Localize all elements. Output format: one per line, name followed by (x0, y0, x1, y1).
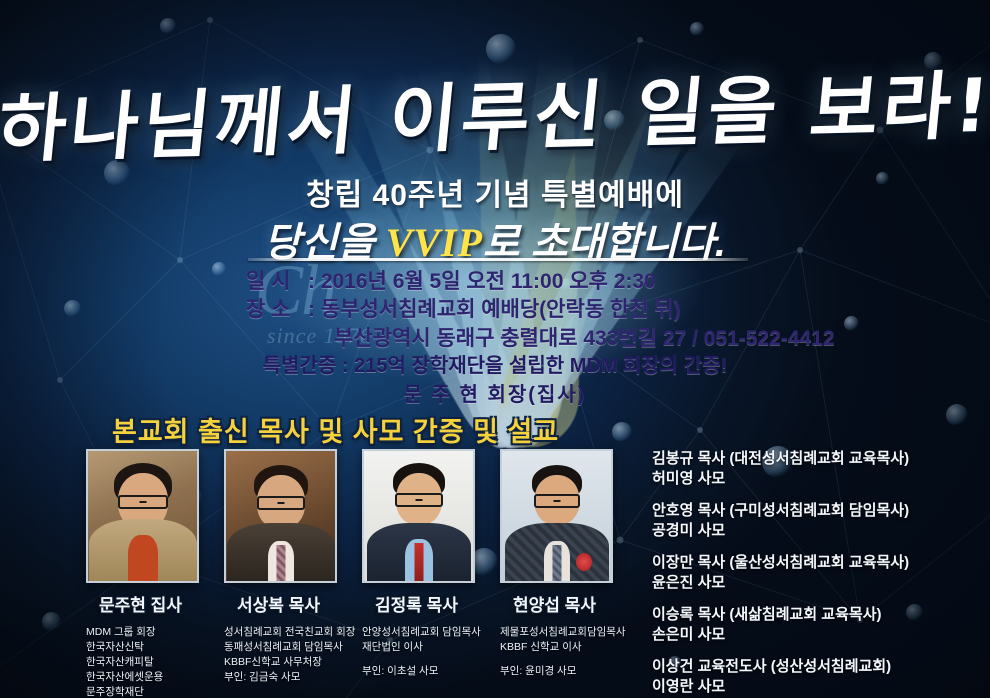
bio-line: 안양성서침례교회 담임목사 (362, 625, 471, 640)
speaker-photo-frame (500, 449, 613, 583)
place-value: : 동부성서침례교회 예배당(안락동 한전 뒤) (308, 296, 681, 324)
date-value: : 2016년 6월 5일 오전 11:00 오후 2:30 (308, 268, 656, 296)
portrait-image (364, 451, 473, 581)
bio-line: 재단법인 이사 (362, 640, 471, 655)
spouse-line: 부인: 이초설 사모 (362, 664, 471, 679)
special-testimony-block: 특별간증 : 215억 장학재단을 설립한 MDM 회장의 간증! 문 주 현 … (0, 352, 990, 410)
speaker-photo-frame (224, 449, 337, 583)
pastor-list-item: 이상건 교육전도사 (성산성서침례교회) 이영란 사모 (652, 657, 909, 696)
portrait-image (88, 451, 197, 581)
section-heading: 본교회 출신 목사 및 사모 간증 및 설교 (112, 410, 559, 449)
pastor-list: 김봉규 목사 (대전성서침례교회 교육목사) 허미영 사모 안호영 목사 (구미… (652, 449, 909, 698)
content-layer: 하나님께서 이루신 일을 보라! 창립 40주년 기념 특별예배에 당신을 VV… (0, 0, 990, 698)
bio-line: 문주장학재단 (86, 685, 195, 698)
pastor-name: 김봉규 목사 (대전성서침례교회 교육목사) (652, 449, 909, 469)
speaker-name: 문주현 집사 (86, 591, 195, 616)
bio-line: 한국자산신탁 (86, 640, 195, 655)
address-value: 부산광역시 동래구 충렬대로 433번길 27 / 051-522-4412 (334, 325, 835, 353)
page-title: 하나님께서 이루신 일을 보라! (0, 46, 990, 177)
speaker-name: 서상복 목사 (224, 591, 333, 616)
speaker-photo-strip: 문주현 집사 MDM 그룹 회장 한국자산신탁 한국자산캐피탈 한국자산에셋운용… (86, 449, 609, 698)
speaker-photo-frame (86, 449, 199, 583)
place-label: 장 소 (246, 296, 308, 324)
speaker-bio: MDM 그룹 회장 한국자산신탁 한국자산캐피탈 한국자산에셋운용 문주장학재단 (86, 625, 195, 698)
portrait-image (502, 451, 611, 581)
speaker-bio: 안양성서침례교회 담임목사 재단법인 이사 부인: 이초설 사모 (362, 625, 471, 679)
pastor-wife: 공경미 사모 (652, 521, 909, 541)
spouse-line: 부인: 김금숙 사모 (224, 670, 333, 685)
pastor-wife: 허미영 사모 (652, 469, 909, 489)
portrait-image (226, 451, 335, 581)
date-label: 일 시 (246, 268, 308, 296)
speaker-name: 현양섭 목사 (500, 591, 609, 616)
pastor-wife: 이영란 사모 (652, 677, 909, 697)
special-testimony-line-2: 문 주 현 회장(집사) (0, 381, 990, 410)
pastor-wife: 윤은진 사모 (652, 573, 909, 593)
speaker-photo-frame (362, 449, 475, 583)
info-row-date: 일 시 : 2016년 6월 5일 오전 11:00 오후 2:30 (246, 268, 835, 296)
speaker-name: 김정록 목사 (362, 591, 471, 616)
event-info-block: 일 시 : 2016년 6월 5일 오전 11:00 오후 2:30 장 소 :… (246, 268, 835, 353)
invitation-poster: Ch since 1976 하나님께서 이루신 일을 보라! 창립 40주년 기… (0, 0, 990, 698)
bio-spacer (362, 655, 471, 664)
bio-line: 한국자산캐피탈 (86, 655, 195, 670)
bio-line: KBBF 신학교 이사 (500, 640, 609, 655)
underline-divider (248, 258, 748, 261)
bio-line: MDM 그룹 회장 (86, 625, 195, 640)
pastor-list-item: 이장만 목사 (울산성서침례교회 교육목사) 윤은진 사모 (652, 553, 909, 592)
speaker-bio: 성서침례교회 전국친교회 회장 동패성서침례교회 담임목사 KBBF신학교 사무… (224, 625, 333, 685)
pastor-wife: 손은미 사모 (652, 625, 909, 645)
bio-spacer (500, 655, 609, 664)
info-row-place: 장 소 : 동부성서침례교회 예배당(안락동 한전 뒤) (246, 296, 835, 324)
bio-line: 제물포성서침례교회담임목사 (500, 625, 609, 640)
speaker-card: 서상복 목사 성서침례교회 전국친교회 회장 동패성서침례교회 담임목사 KBB… (224, 449, 333, 698)
pastor-name: 이상건 교육전도사 (성산성서침례교회) (652, 657, 909, 677)
subtitle-line-1: 창립 40주년 기념 특별예배에 (0, 170, 990, 214)
speaker-bio: 제물포성서침례교회담임목사 KBBF 신학교 이사 부인: 윤미경 사모 (500, 625, 609, 679)
pastor-list-item: 이승록 목사 (새삶침례교회 교육목사) 손은미 사모 (652, 605, 909, 644)
special-testimony-line-1: 특별간증 : 215억 장학재단을 설립한 MDM 회장의 간증! (0, 352, 990, 381)
pastor-name: 안호영 목사 (구미성서침례교회 담임목사) (652, 501, 909, 521)
pastor-name: 이승록 목사 (새삶침례교회 교육목사) (652, 605, 909, 625)
pastor-list-item: 안호영 목사 (구미성서침례교회 담임목사) 공경미 사모 (652, 501, 909, 540)
speaker-card: 현양섭 목사 제물포성서침례교회담임목사 KBBF 신학교 이사 부인: 윤미경… (500, 449, 609, 698)
bio-line: 한국자산에셋운용 (86, 670, 195, 685)
spouse-line: 부인: 윤미경 사모 (500, 664, 609, 679)
speaker-card: 김정록 목사 안양성서침례교회 담임목사 재단법인 이사 부인: 이초설 사모 (362, 449, 471, 698)
bio-line: KBBF신학교 사무처장 (224, 655, 333, 670)
speaker-card: 문주현 집사 MDM 그룹 회장 한국자산신탁 한국자산캐피탈 한국자산에셋운용… (86, 449, 195, 698)
bio-line: 동패성서침례교회 담임목사 (224, 640, 333, 655)
pastor-name: 이장만 목사 (울산성서침례교회 교육목사) (652, 553, 909, 573)
pastor-list-item: 김봉규 목사 (대전성서침례교회 교육목사) 허미영 사모 (652, 449, 909, 488)
bio-line: 성서침례교회 전국친교회 회장 (224, 625, 333, 640)
